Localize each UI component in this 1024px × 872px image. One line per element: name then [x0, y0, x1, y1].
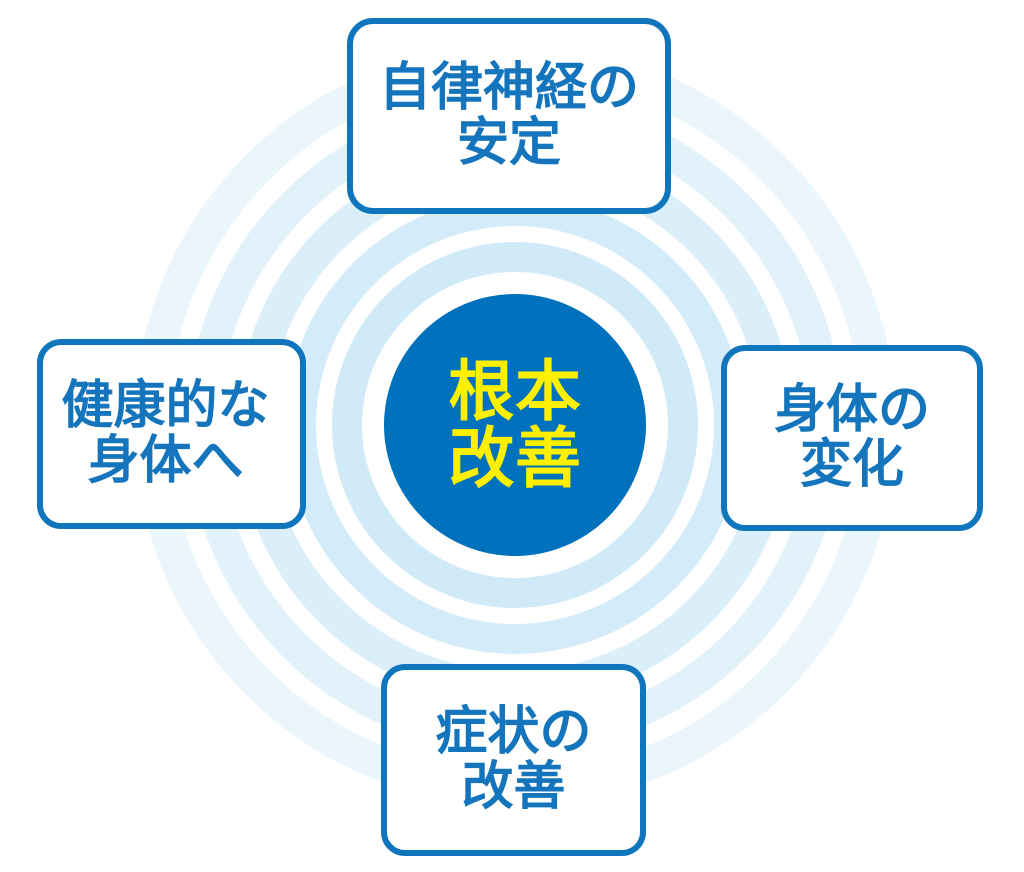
node-symptom-improvement[interactable]: 症状の 改善 [381, 664, 646, 856]
node-left-line-2: 身体へ [87, 434, 243, 489]
node-autonomic-nerve-stability[interactable]: 自律神経の 安定 [347, 18, 671, 214]
infographic-canvas: 根本 改善 自律神経の 安定 健康的な 身体へ 身体の 変化 症状の 改善 [0, 0, 1024, 872]
node-left-line-1: 健康的な [61, 379, 269, 434]
node-right-line-1: 身体の [774, 383, 930, 438]
node-bottom-line-1: 症状の [435, 705, 591, 760]
center-circle-line-1: 根本 [448, 358, 581, 425]
node-physical-change[interactable]: 身体の 変化 [721, 345, 983, 531]
node-toward-a-healthy-body[interactable]: 健康的な 身体へ [37, 339, 306, 529]
center-circle-line-2: 改善 [448, 425, 581, 492]
node-top-line-2: 安定 [457, 116, 561, 171]
node-right-line-2: 変化 [800, 438, 904, 493]
node-bottom-line-2: 改善 [461, 760, 565, 815]
center-circle-root-improvement[interactable]: 根本 改善 [384, 294, 646, 556]
node-top-line-1: 自律神経の [379, 61, 639, 116]
